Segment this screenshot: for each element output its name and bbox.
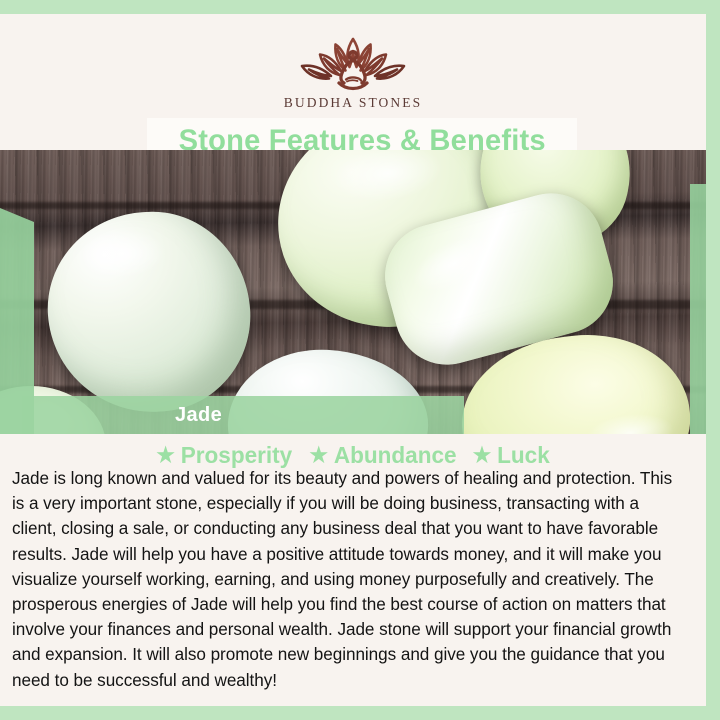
brand-logo-block: BUDDHA STONES [0,14,706,124]
lotus-meditation-icon [287,31,419,93]
keyword-abundance: ★ Abundance [310,442,457,469]
keyword-luck: ★ Luck [473,442,550,469]
infographic-canvas: BUDDHA STONES Stone Features & Benefits [0,0,720,720]
hero-photo [0,150,706,434]
stone-description: Jade is long known and valued for its be… [12,466,686,693]
content-card: BUDDHA STONES Stone Features & Benefits [0,14,706,706]
stone-name-band: Jade [22,396,464,434]
star-icon: ★ [157,445,175,466]
right-green-tab [690,184,706,434]
keyword-label: Luck [497,442,550,469]
brand-name: BUDDHA STONES [284,95,422,111]
keyword-label: Abundance [334,442,457,469]
keyword-prosperity: ★ Prosperity [157,442,293,469]
stone-name: Jade [175,404,222,427]
star-icon: ★ [473,445,491,466]
star-icon: ★ [310,445,328,466]
keyword-label: Prosperity [181,442,292,469]
